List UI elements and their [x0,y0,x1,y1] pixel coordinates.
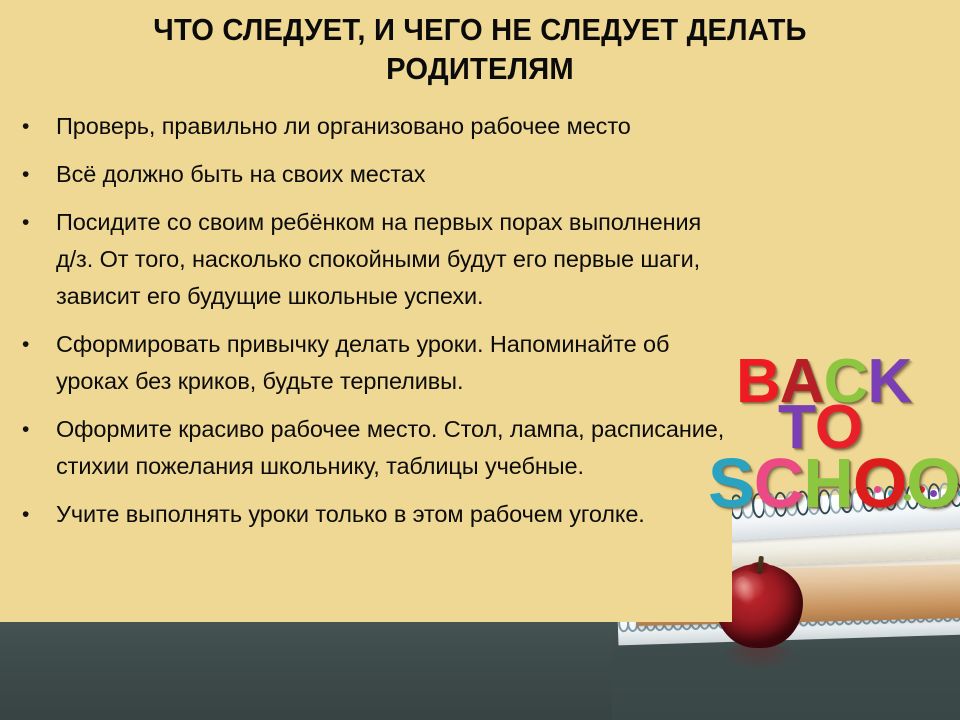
list-item: •Посидите со своим ребёнком на первых по… [0,204,880,315]
bullet-text: Сформировать привычку делать уроки. Напо… [56,326,880,400]
slide-canvas: BACK TO SCHOOL ЧТО СЛЕДУЕТ, И ЧЕГО НЕ СЛ… [0,0,960,720]
list-item: •Проверь, правильно ли организовано рабо… [0,108,880,145]
list-item: •Сформировать привычку делать уроки. Нап… [0,326,880,400]
bead-dot [930,490,937,497]
bullet-dot-icon: • [18,156,56,193]
bullet-dot-icon: • [18,326,56,363]
list-item: •Всё должно быть на своих местах [0,156,880,193]
bullet-dot-icon: • [18,204,56,241]
bullet-dot-icon: • [18,496,56,533]
bead-dot [904,494,911,501]
list-item: •Оформите красиво рабочее место. Стол, л… [0,411,880,485]
bullet-text: Посидите со своим ребёнком на первых пор… [56,204,880,315]
bullet-dot-icon: • [18,108,56,145]
bullet-dot-icon: • [18,411,56,448]
bullet-text: Проверь, правильно ли организовано рабоч… [56,108,880,145]
page-title: ЧТО СЛЕДУЕТ, И ЧЕГО НЕ СЛЕДУЕТ ДЕЛАТЬ РО… [49,10,910,88]
bullet-text: Всё должно быть на своих местах [56,156,880,193]
bullet-text: Учите выполнять уроки только в этом рабо… [56,496,880,533]
list-item: •Учите выполнять уроки только в этом раб… [0,496,880,533]
bullet-list: •Проверь, правильно ли организовано рабо… [0,108,880,544]
bullet-text: Оформите красиво рабочее место. Стол, ла… [56,411,880,485]
bead-dot [942,494,949,501]
bead-dot [888,490,895,497]
bead-dot [918,486,925,493]
